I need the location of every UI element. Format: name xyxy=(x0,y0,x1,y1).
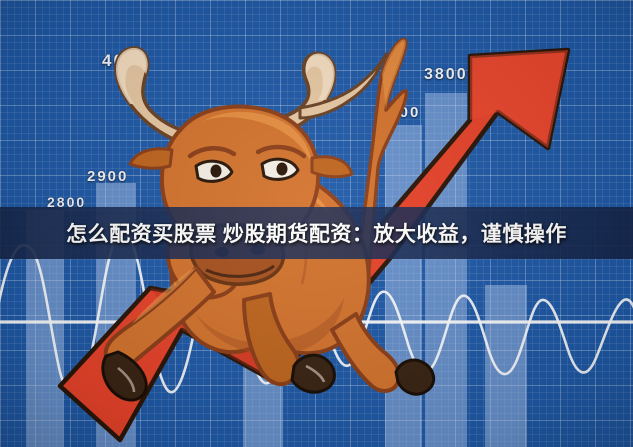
page-title: 怎么配资买股票 炒股期货配资：放大收益，谨慎操作 xyxy=(66,218,567,248)
banner-image-canvas: 40003800360029002800 xyxy=(0,0,633,447)
title-banner: 怎么配资买股票 炒股期货配资：放大收益，谨慎操作 xyxy=(0,207,633,259)
bull-hind-legs xyxy=(332,314,434,394)
